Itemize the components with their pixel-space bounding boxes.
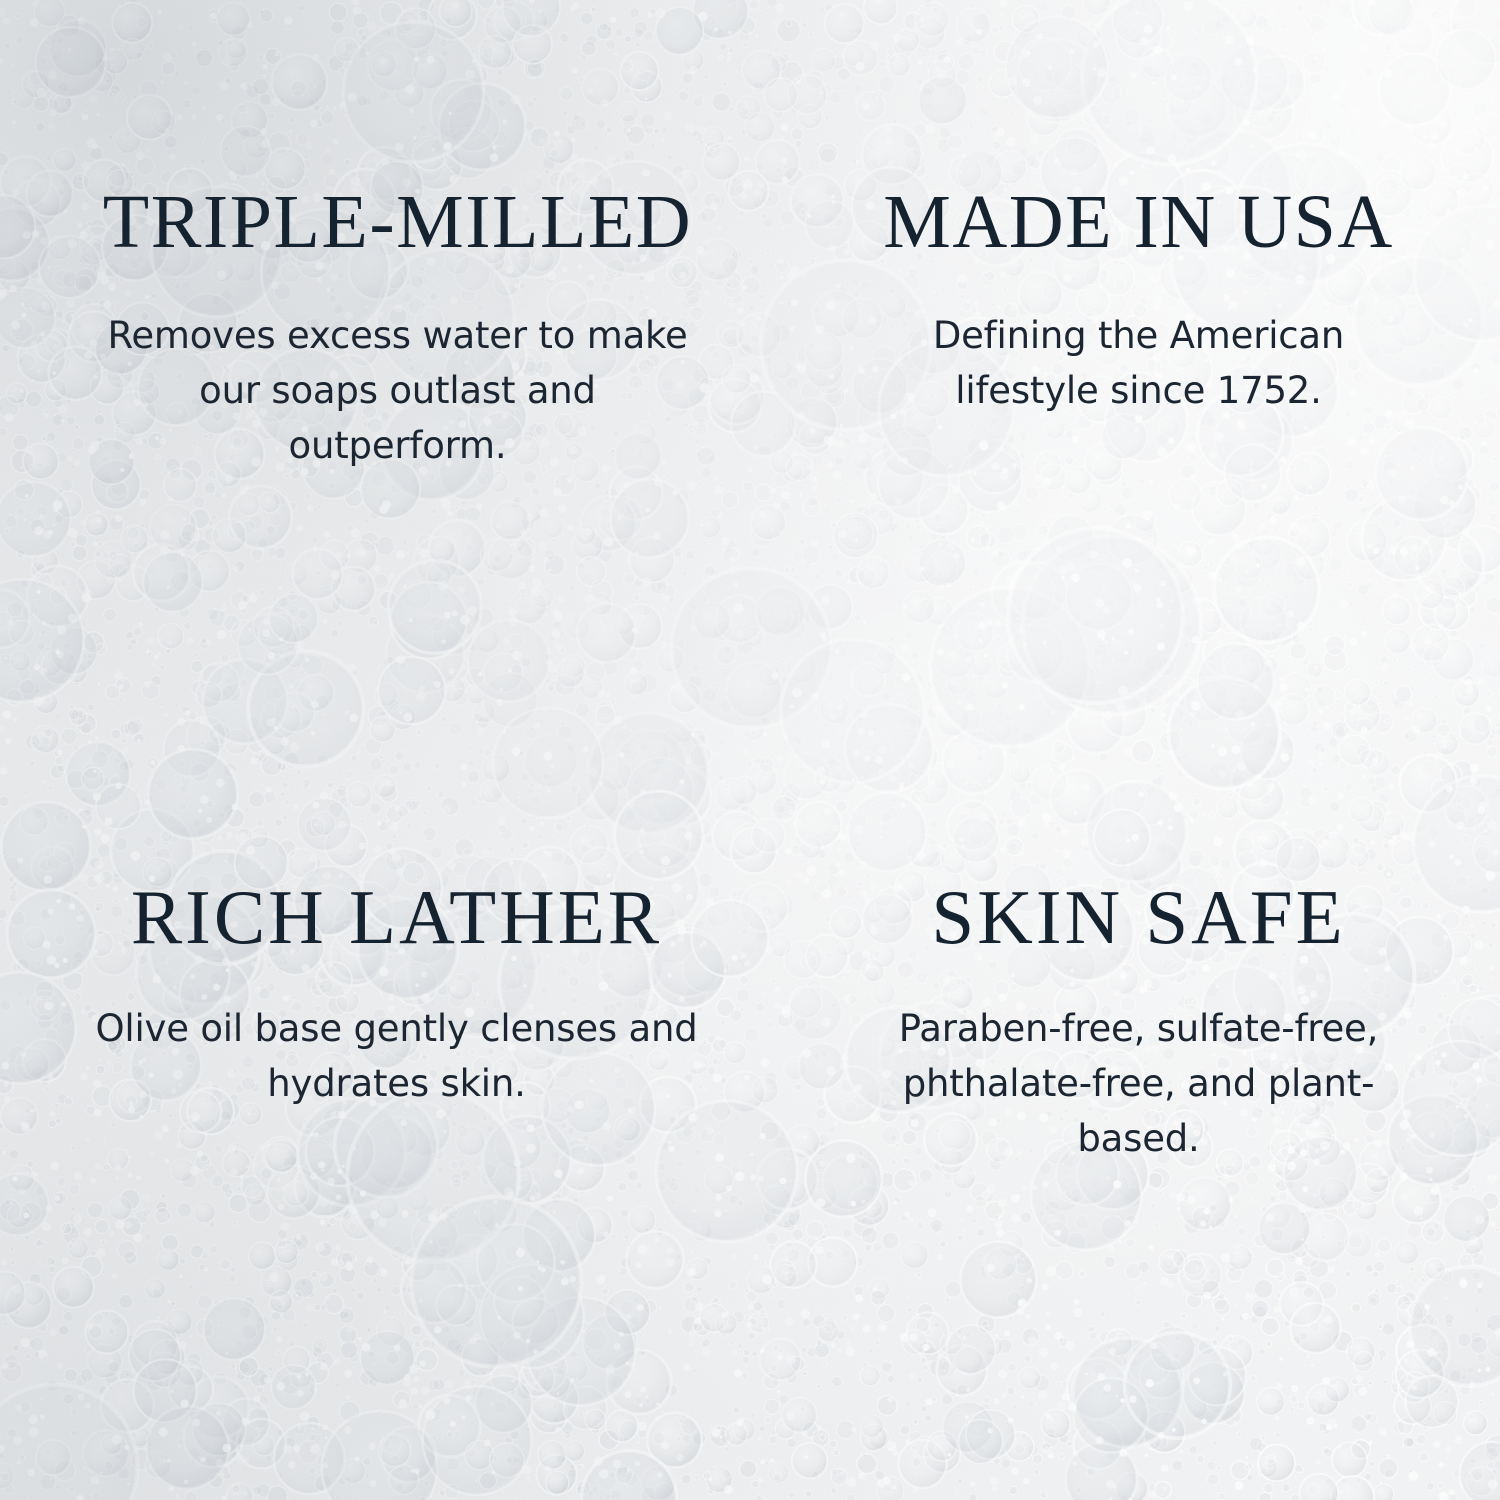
- feature-block-made-in-usa: MADE IN USA Defining the American lifest…: [785, 0, 1500, 750]
- feature-block-triple-milled: TRIPLE-MILLED Removes excess water to ma…: [0, 0, 785, 750]
- feature-block-skin-safe: SKIN SAFE Paraben-free, sulfate-free, ph…: [785, 750, 1500, 1500]
- feature-grid: TRIPLE-MILLED Removes excess water to ma…: [0, 0, 1500, 1500]
- feature-title-made-in-usa: MADE IN USA: [883, 183, 1394, 261]
- feature-description-skin-safe: Paraben-free, sulfate-free, phthalate-fr…: [845, 1001, 1432, 1166]
- feature-title-triple-milled: TRIPLE-MILLED: [103, 183, 692, 261]
- feature-panel: TRIPLE-MILLED Removes excess water to ma…: [0, 0, 1500, 1500]
- feature-title-rich-lather: RICH LATHER: [131, 878, 662, 956]
- feature-block-rich-lather: RICH LATHER Olive oil base gently clense…: [0, 750, 785, 1500]
- feature-description-rich-lather: Olive oil base gently clenses and hydrat…: [67, 1001, 727, 1111]
- feature-description-triple-milled: Removes excess water to make our soaps o…: [85, 308, 710, 473]
- feature-title-skin-safe: SKIN SAFE: [931, 878, 1345, 956]
- feature-description-made-in-usa: Defining the American lifestyle since 17…: [874, 308, 1404, 418]
